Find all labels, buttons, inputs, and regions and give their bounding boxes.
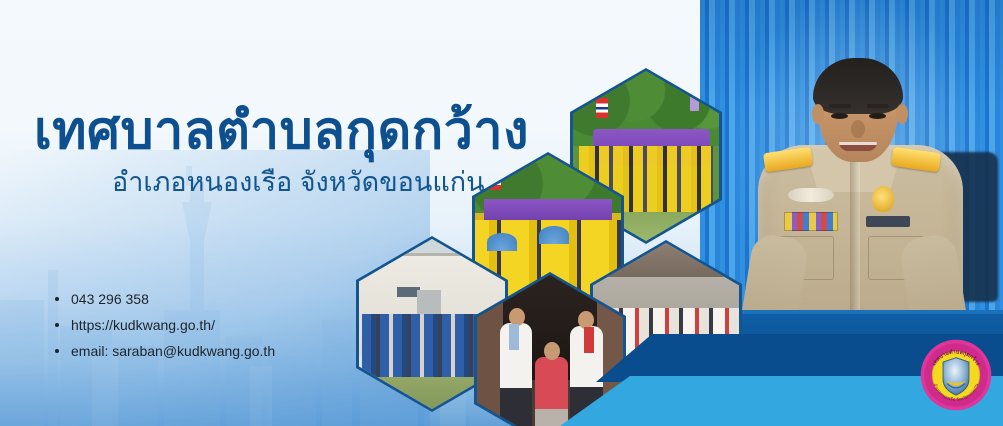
ear-right (896, 104, 908, 124)
ear-left (812, 104, 824, 124)
nose (851, 120, 865, 138)
wing-badge-icon (788, 188, 834, 202)
page-title: เทศบาลตำบลกุดกว้าง (34, 88, 529, 171)
contact-item-email[interactable]: email: saraban@kudkwang.go.th (55, 343, 275, 359)
ribbon-bar-icon (784, 212, 838, 231)
hair (813, 58, 903, 114)
mouth (839, 142, 877, 151)
contact-list: 043 296 358 https://kudkwang.go.th/ emai… (55, 291, 275, 369)
municipality-seal: เทศบาลตำบลกุดกว้าง อำเภอหนองเรือ จังหวัด… (920, 339, 992, 411)
eye-left (831, 113, 848, 119)
page-subtitle: อำเภอหนองเรือ จังหวัดขอนแก่น (112, 160, 485, 203)
eye-right (869, 113, 886, 119)
contact-item-phone: 043 296 358 (55, 291, 275, 307)
shirt-placket (850, 160, 860, 310)
eyebrow-left (829, 104, 851, 108)
name-tag (866, 216, 910, 227)
eyebrow-right (867, 104, 889, 108)
gold-insignia-icon (872, 186, 894, 212)
contact-item-website[interactable]: https://kudkwang.go.th/ (55, 317, 275, 333)
municipality-banner: เทศบาลตำบลกุดกว้าง อำเภอหนองเรือ จังหวัด… (0, 0, 1003, 426)
